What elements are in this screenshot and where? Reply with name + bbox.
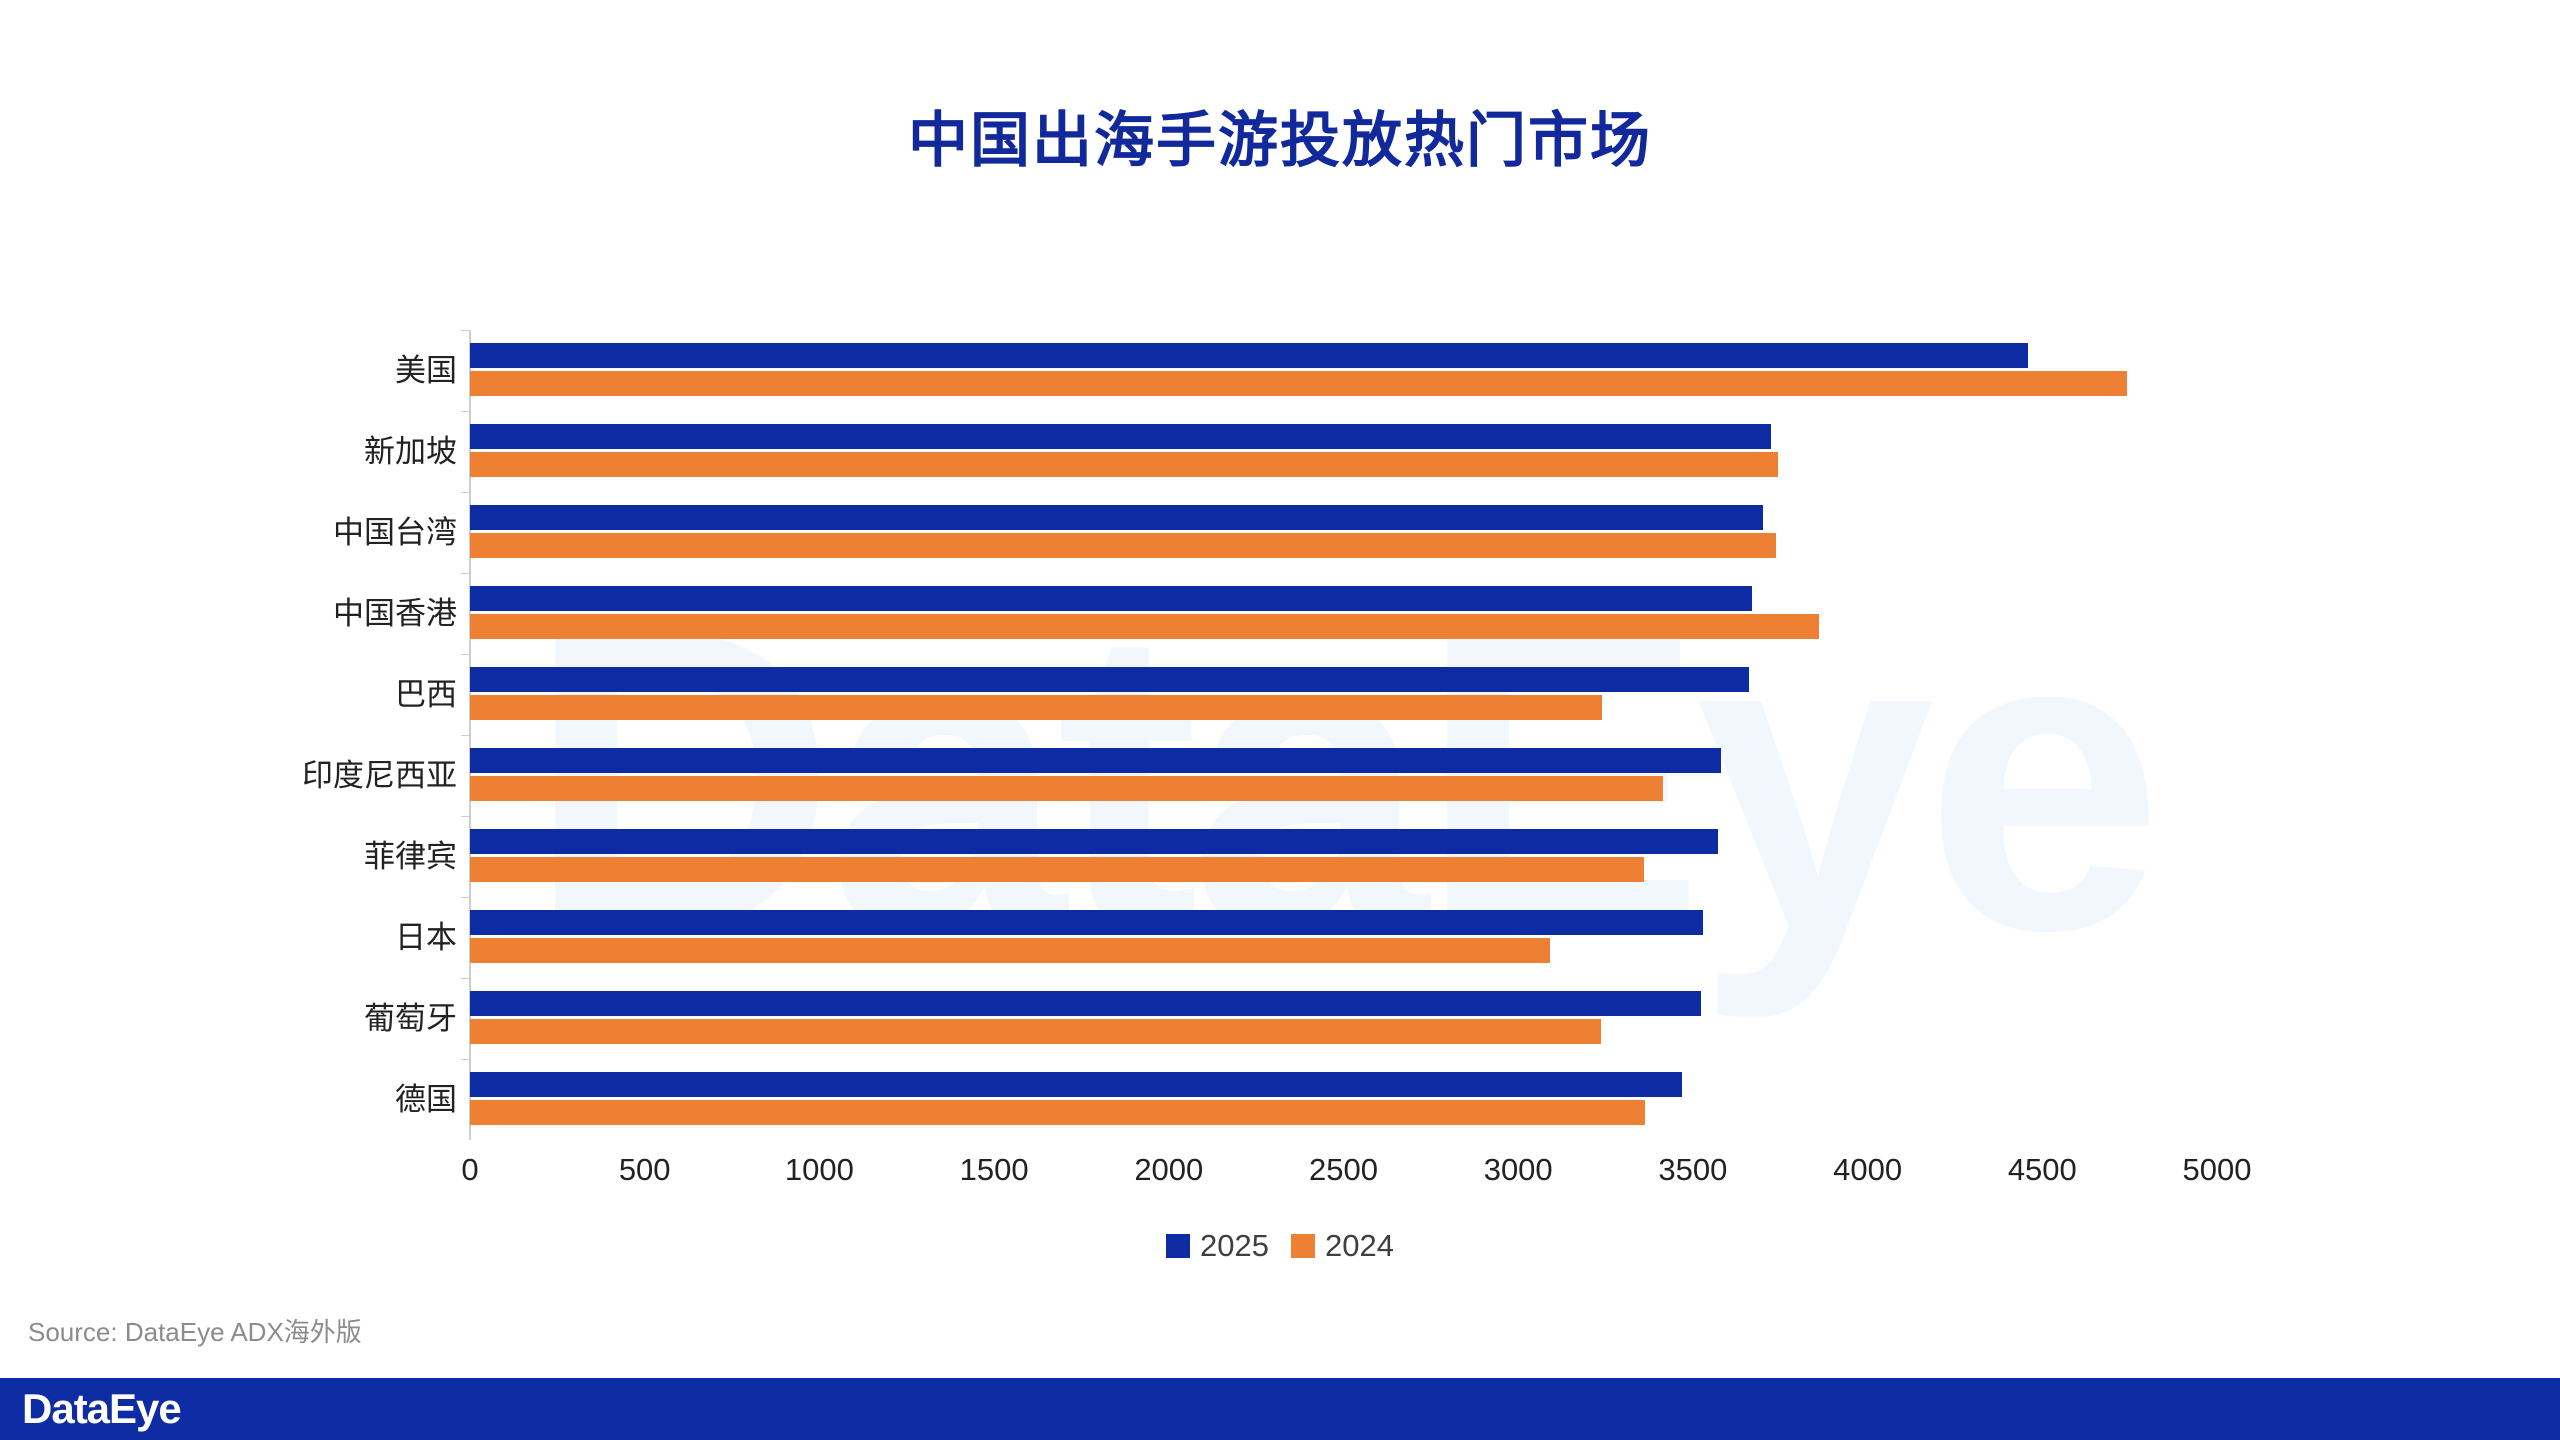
- bar-2024: [470, 614, 1819, 639]
- category-row: 日本: [470, 897, 2217, 978]
- x-axis-tick-label: 500: [565, 1152, 725, 1188]
- bar-2024: [470, 1100, 1645, 1125]
- x-axis-line: [470, 1140, 2217, 1141]
- bar-2025: [470, 829, 1718, 854]
- legend-item-2025[interactable]: 2025: [1166, 1228, 1269, 1264]
- category-label: 中国香港: [57, 573, 457, 654]
- bar-2024: [470, 371, 2127, 396]
- x-axis-tick-label: 2500: [1264, 1152, 1424, 1188]
- x-axis-tick-label: 3000: [1438, 1152, 1598, 1188]
- category-label: 德国: [57, 1059, 457, 1140]
- bar-2025: [470, 424, 1771, 449]
- legend-label: 2025: [1200, 1228, 1269, 1264]
- category-label: 新加坡: [57, 411, 457, 492]
- category-row: 巴西: [470, 654, 2217, 735]
- bar-2025: [470, 586, 1752, 611]
- chart-plot-wrapper: 美国新加坡中国台湾中国香港巴西印度尼西亚菲律宾日本葡萄牙德国 050010001…: [0, 0, 2560, 1440]
- bar-2025: [470, 748, 1721, 773]
- y-axis-tick: [461, 330, 470, 331]
- category-row: 菲律宾: [470, 816, 2217, 897]
- y-axis-tick: [461, 411, 470, 412]
- y-axis-tick: [461, 573, 470, 574]
- category-row: 新加坡: [470, 411, 2217, 492]
- category-row: 中国台湾: [470, 492, 2217, 573]
- category-label: 中国台湾: [57, 492, 457, 573]
- y-axis-tick: [461, 735, 470, 736]
- category-row: 印度尼西亚: [470, 735, 2217, 816]
- chart-legend: 20252024: [0, 1228, 2560, 1264]
- category-label: 菲律宾: [57, 816, 457, 897]
- bar-2024: [470, 938, 1550, 963]
- bar-2025: [470, 910, 1703, 935]
- bar-2024: [470, 776, 1663, 801]
- y-axis-tick: [461, 816, 470, 817]
- x-axis-tick-label: 0: [390, 1152, 550, 1188]
- x-axis-tick-label: 5000: [2137, 1152, 2297, 1188]
- bar-2025: [470, 991, 1701, 1016]
- category-row: 中国香港: [470, 573, 2217, 654]
- category-label: 美国: [57, 330, 457, 411]
- category-label: 巴西: [57, 654, 457, 735]
- bar-2024: [470, 1019, 1601, 1044]
- bar-2024: [470, 452, 1778, 477]
- source-note: Source: DataEye ADX海外版: [28, 1312, 362, 1349]
- category-label: 日本: [57, 897, 457, 978]
- y-axis-tick: [461, 654, 470, 655]
- bar-2025: [470, 505, 1763, 530]
- bar-2025: [470, 343, 2028, 368]
- x-axis-tick-label: 4000: [1788, 1152, 1948, 1188]
- legend-swatch-icon: [1291, 1234, 1315, 1258]
- x-axis-tick-label: 1500: [914, 1152, 1074, 1188]
- bar-2025: [470, 667, 1749, 692]
- x-axis-tick-label: 3500: [1613, 1152, 1773, 1188]
- bar-2024: [470, 695, 1602, 720]
- legend-label: 2024: [1325, 1228, 1394, 1264]
- plot-area: 美国新加坡中国台湾中国香港巴西印度尼西亚菲律宾日本葡萄牙德国: [470, 330, 2217, 1140]
- bar-2025: [470, 1072, 1682, 1097]
- y-axis-tick: [461, 1059, 470, 1060]
- category-row: 葡萄牙: [470, 978, 2217, 1059]
- bar-2024: [470, 533, 1776, 558]
- category-label: 印度尼西亚: [57, 735, 457, 816]
- dataeye-logo: DataEye: [22, 1386, 181, 1432]
- y-axis-tick: [461, 897, 470, 898]
- legend-swatch-icon: [1166, 1234, 1190, 1258]
- x-axis-tick-label: 2000: [1089, 1152, 1249, 1188]
- category-row: 美国: [470, 330, 2217, 411]
- y-axis-tick: [461, 492, 470, 493]
- footer-bar: DataEye: [0, 1378, 2560, 1440]
- category-row: 德国: [470, 1059, 2217, 1140]
- x-axis-tick-label: 4500: [1962, 1152, 2122, 1188]
- y-axis-tick: [461, 978, 470, 979]
- page-title: 中国出海手游投放热门市场: [0, 92, 2560, 179]
- x-axis-tick-label: 1000: [739, 1152, 899, 1188]
- legend-item-2024[interactable]: 2024: [1291, 1228, 1394, 1264]
- bar-2024: [470, 857, 1644, 882]
- category-label: 葡萄牙: [57, 978, 457, 1059]
